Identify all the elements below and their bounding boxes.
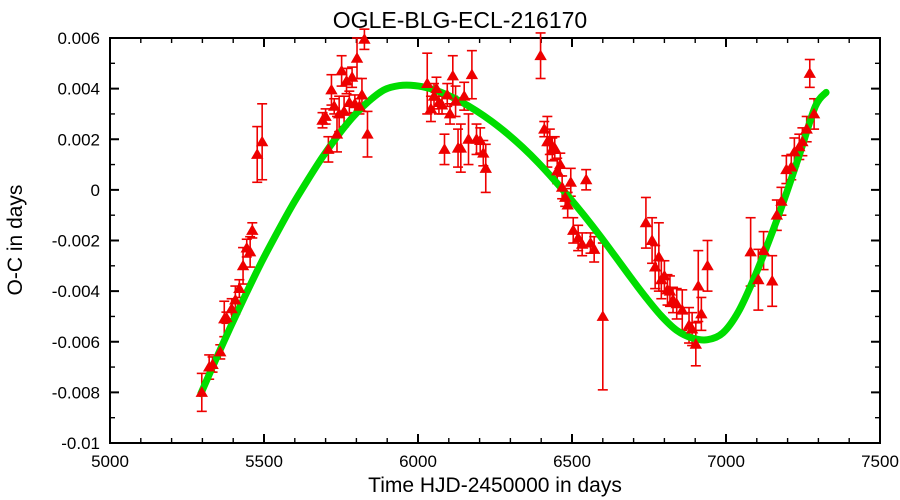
y-axis-title: O-C in days xyxy=(4,185,27,296)
y-axis-tick-labels: 0.0060.0040.0020-0.002-0.004-0.006-0.008… xyxy=(52,29,100,453)
x-tick-label: 7000 xyxy=(707,452,745,471)
y-tick-label: -0.004 xyxy=(52,282,100,301)
y-tick-label: 0 xyxy=(91,181,100,200)
chart-canvas: OGLE-BLG-ECL-216170 50005500600065007000… xyxy=(0,0,900,500)
x-tick-label: 6000 xyxy=(399,452,437,471)
x-axis-title: Time HJD-2450000 in days xyxy=(368,474,622,497)
x-tick-label: 5000 xyxy=(91,452,129,471)
x-tick-label: 7500 xyxy=(861,452,899,471)
y-tick-label: -0.002 xyxy=(52,232,100,251)
y-tick-label: 0.004 xyxy=(57,80,100,99)
y-tick-label: -0.01 xyxy=(61,434,100,453)
chart-title: OGLE-BLG-ECL-216170 xyxy=(333,7,587,33)
y-tick-label: -0.008 xyxy=(52,383,100,402)
y-tick-label: 0.002 xyxy=(57,130,100,149)
chart-figure: OGLE-BLG-ECL-216170 50005500600065007000… xyxy=(0,0,900,500)
y-tick-label: -0.006 xyxy=(52,333,100,352)
x-tick-label: 6500 xyxy=(553,452,591,471)
x-tick-label: 5500 xyxy=(245,452,283,471)
y-tick-label: 0.006 xyxy=(57,29,100,48)
